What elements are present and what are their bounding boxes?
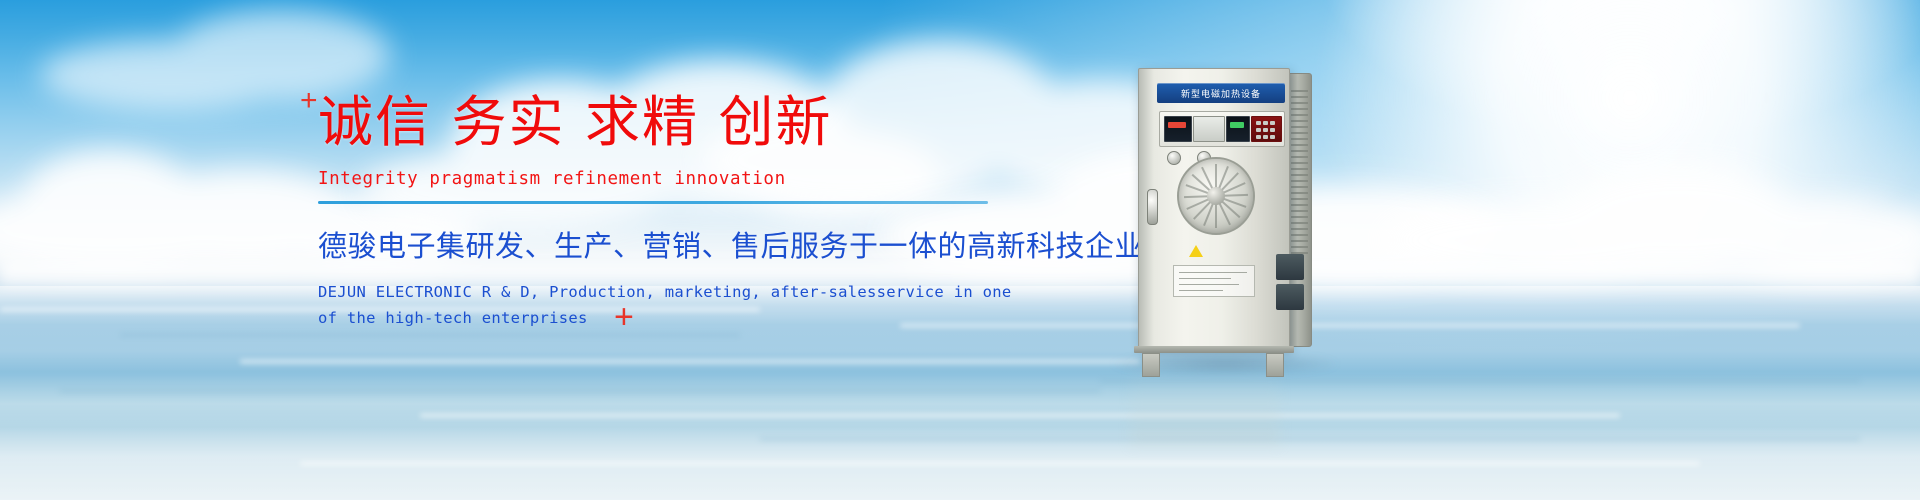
display-meter-2 xyxy=(1226,116,1250,142)
divider-rule xyxy=(318,201,988,204)
headline-english: Integrity pragmatism refinement innovati… xyxy=(318,169,1018,189)
connector-block-upper xyxy=(1276,254,1304,280)
promotional-banner: + + 诚信 务实 求精 创新 Integrity pragmatism ref… xyxy=(0,0,1920,500)
connector-block-lower xyxy=(1276,284,1304,310)
machine-cabinet: 新型电磁加热设备 xyxy=(1138,68,1290,350)
cooling-fan-grille xyxy=(1177,157,1255,235)
keypad-block[interactable] xyxy=(1251,116,1282,142)
headline-chinese: 诚信 务实 求精 创新 xyxy=(318,95,1018,150)
product-label: 新型电磁加热设备 xyxy=(1157,83,1285,103)
display-meter-1 xyxy=(1164,116,1192,142)
description-english-line2: of the high-tech enterprises xyxy=(318,305,1018,331)
description-english-line1: DEJUN ELECTRONIC R & D, Production, mark… xyxy=(318,279,1018,305)
fan-hub xyxy=(1207,187,1225,205)
plus-mark-top-icon: + xyxy=(300,86,318,116)
machine-foot-left xyxy=(1142,353,1160,377)
side-latch[interactable] xyxy=(1147,189,1158,225)
spec-plate xyxy=(1173,265,1255,297)
product-machine: 新型电磁加热设备 xyxy=(1126,68,1312,368)
machine-foot-right xyxy=(1266,353,1284,377)
description-chinese: 德骏电子集研发、生产、营销、售后服务于一体的高新科技企业 xyxy=(318,223,1018,265)
warning-triangle-icon xyxy=(1189,245,1203,257)
control-knob-left[interactable] xyxy=(1167,151,1181,165)
analog-gauge xyxy=(1193,116,1225,142)
description-english: DEJUN ELECTRONIC R & D, Production, mark… xyxy=(318,279,1018,331)
banner-copy: 诚信 务实 求精 创新 Integrity pragmatism refinem… xyxy=(318,95,1018,331)
control-panel xyxy=(1159,111,1285,147)
machine-base xyxy=(1134,346,1294,353)
